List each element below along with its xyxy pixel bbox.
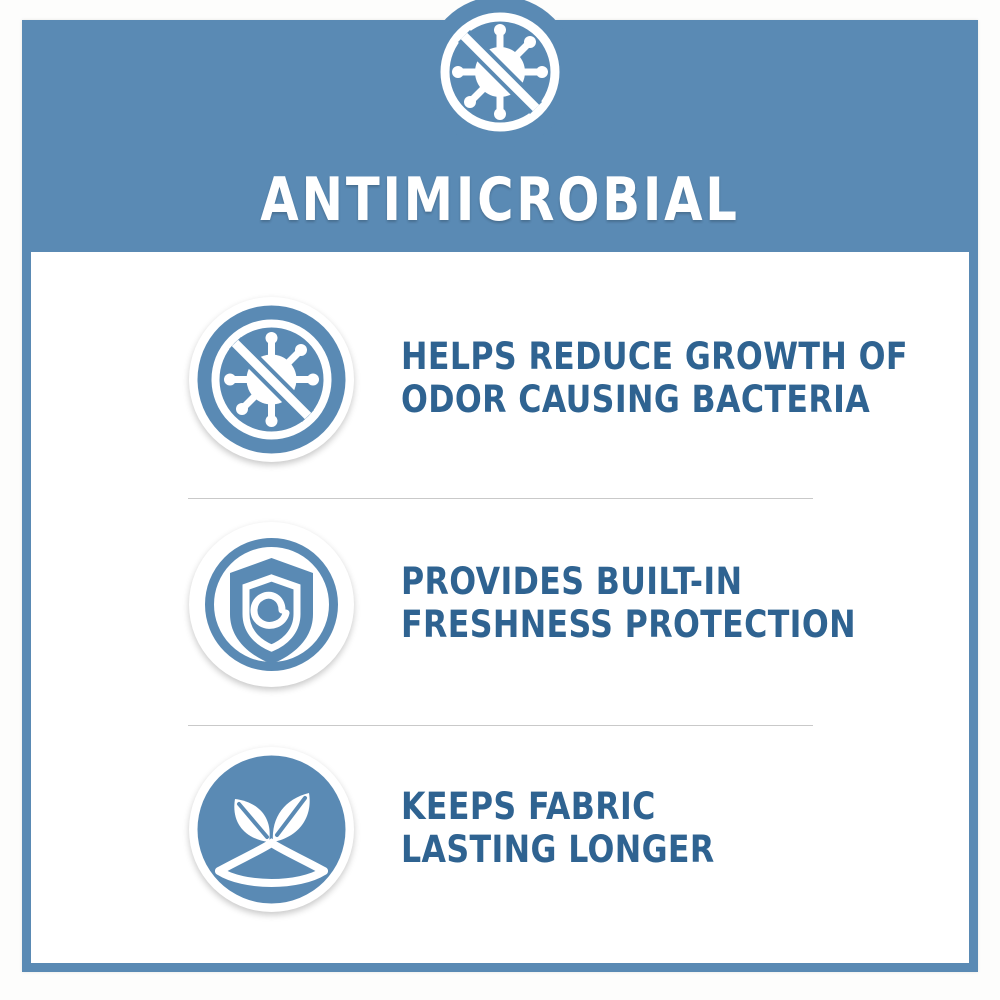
feature-row-antibacterial: HELPS REDUCE GROWTH OF ODOR CAUSING BACT… [31, 274, 969, 484]
no-germs-icon [189, 297, 354, 462]
leaf-fabric-icon [189, 747, 354, 912]
feature-row-fabric: KEEPS FABRIC LASTING LONGER [31, 724, 969, 934]
header-band: ANTIMICROBIAL [22, 20, 978, 252]
no-germs-glyph [424, 0, 576, 148]
icon-disc [189, 522, 354, 687]
feature-text-antibacterial: HELPS REDUCE GROWTH OF ODOR CAUSING BACT… [401, 336, 908, 422]
icon-disc [189, 747, 354, 912]
icon-disc [189, 297, 354, 462]
feature-text-freshness: PROVIDES BUILT-IN FRESHNESS PROTECTION [401, 561, 856, 647]
shield-freshness-glyph [189, 522, 354, 687]
leaf-fabric-glyph [189, 747, 354, 912]
feature-text-fabric: KEEPS FABRIC LASTING LONGER [401, 786, 715, 872]
feature-row-freshness: PROVIDES BUILT-IN FRESHNESS PROTECTION [31, 499, 969, 709]
infographic-root: ANTIMICROBIAL [0, 0, 1000, 1000]
row-divider [188, 725, 813, 726]
page-title: ANTIMICROBIAL [60, 170, 940, 230]
no-germs-glyph [189, 297, 354, 462]
shield-freshness-icon [189, 522, 354, 687]
feature-list: HELPS REDUCE GROWTH OF ODOR CAUSING BACT… [31, 252, 969, 963]
no-germs-icon [424, 0, 576, 148]
row-divider [188, 498, 813, 499]
